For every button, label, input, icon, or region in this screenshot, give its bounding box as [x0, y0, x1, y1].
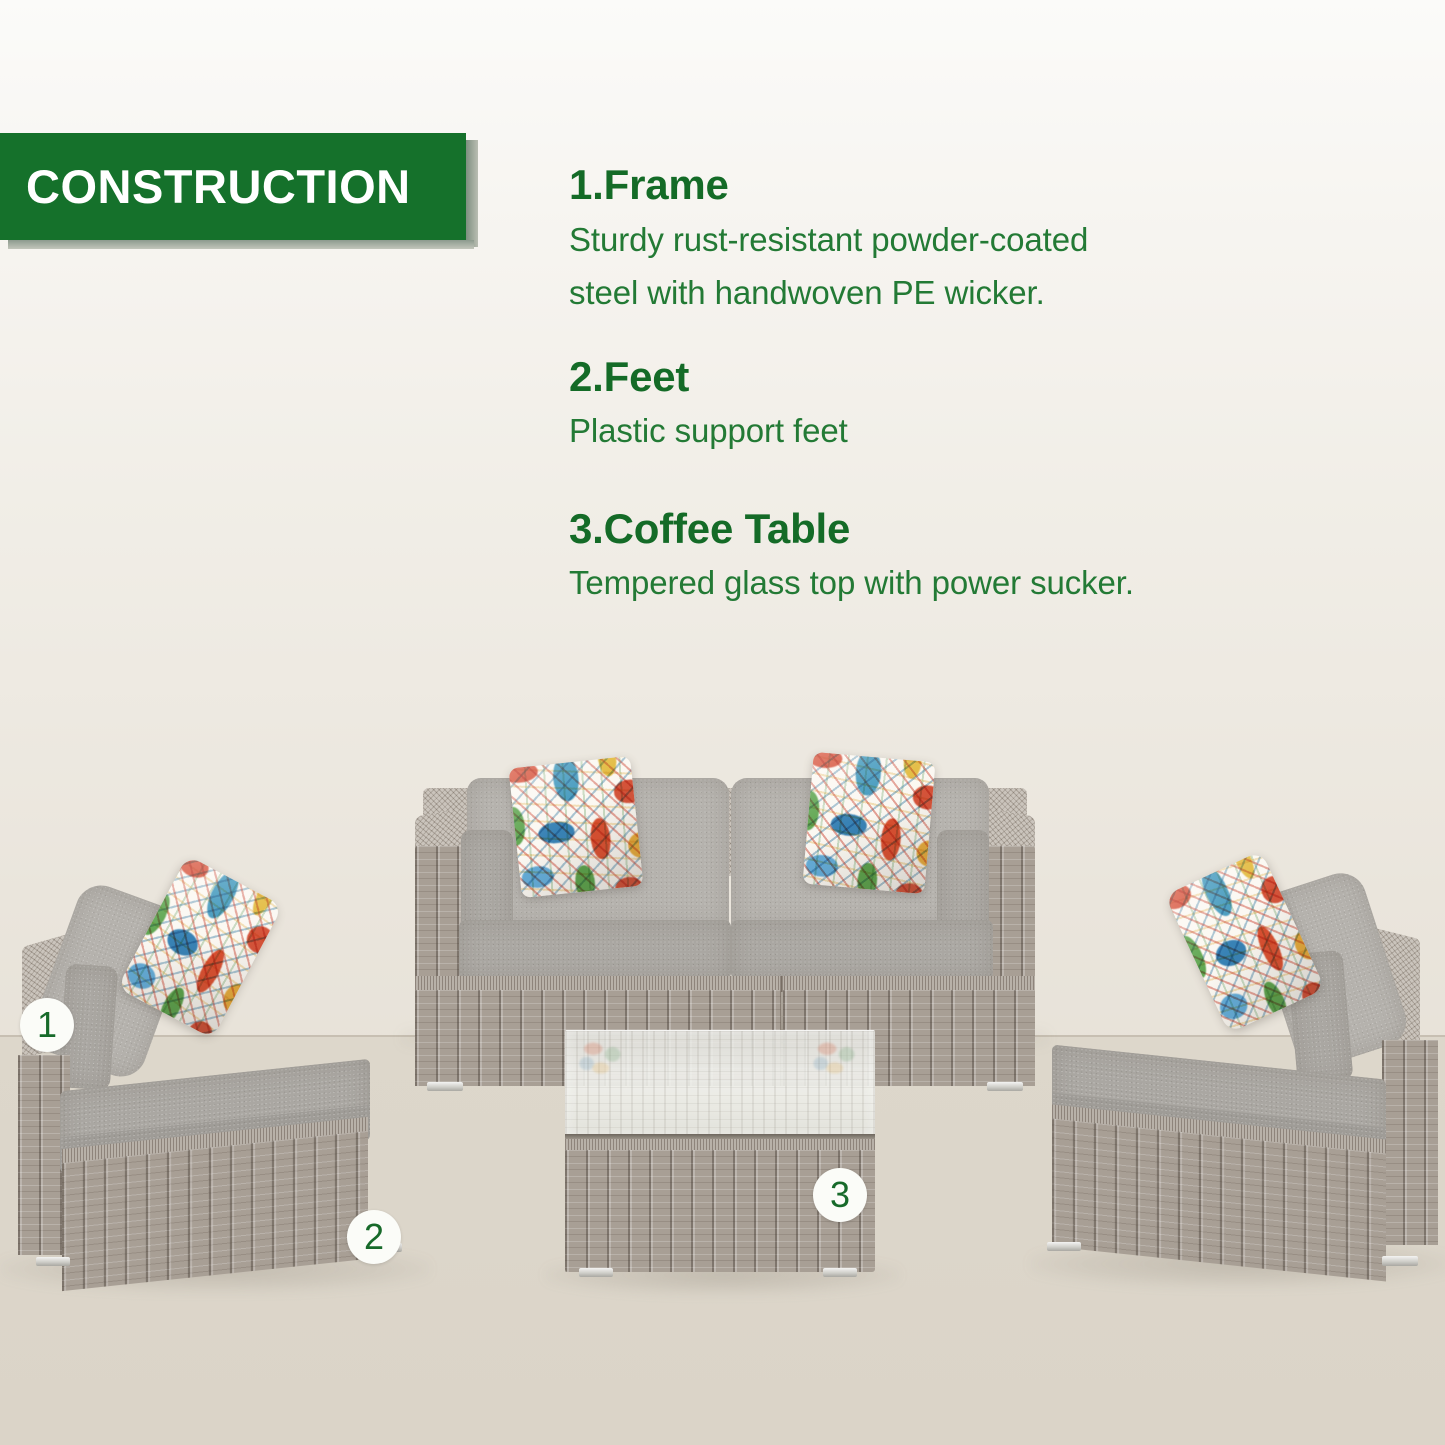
- glass-pillow-reflection-right: [811, 1035, 865, 1081]
- loveseat-foot-right: [987, 1082, 1023, 1091]
- callout-badge-3-number: 3: [830, 1177, 850, 1213]
- right-chair-foot-right: [1382, 1256, 1418, 1266]
- loveseat-foot-left: [427, 1082, 463, 1091]
- feature-title-coffee-table: 3.Coffee Table: [569, 502, 1369, 557]
- feature-title-feet: 2.Feet: [569, 350, 1369, 405]
- callout-badge-2[interactable]: 2: [347, 1210, 401, 1264]
- right-chair-side-panel: [1382, 1040, 1438, 1245]
- feature-body-feet: Plastic support feet: [569, 404, 1369, 457]
- glass-pillow-reflection-left: [577, 1035, 631, 1081]
- callout-badge-2-number: 2: [364, 1219, 384, 1255]
- callout-badge-3[interactable]: 3: [813, 1168, 867, 1222]
- feature-section-frame: 1.Frame Sturdy rust-resistant powder-coa…: [569, 158, 1369, 320]
- feature-section-feet: 2.Feet Plastic support feet: [569, 350, 1369, 458]
- banner-shadow-bottom: [8, 240, 474, 249]
- feature-body-coffee-table-line-1: Tempered glass top with power sucker.: [569, 556, 1369, 609]
- loveseat-pillow-left: [509, 756, 644, 898]
- callout-badge-1-number: 1: [37, 1007, 57, 1043]
- left-chair-foot-left: [36, 1257, 70, 1266]
- feature-title-frame: 1.Frame: [569, 158, 1369, 213]
- feature-body-frame: Sturdy rust-resistant powder-coated stee…: [569, 213, 1369, 320]
- feature-list: 1.Frame Sturdy rust-resistant powder-coa…: [569, 158, 1369, 614]
- loveseat-seat-cushion-right: [731, 920, 993, 980]
- coffee-table: [565, 1030, 875, 1275]
- feature-section-coffee-table: 3.Coffee Table Tempered glass top with p…: [569, 502, 1369, 610]
- infographic-canvas: CONSTRUCTION 1.Frame Sturdy rust-resista…: [0, 0, 1445, 1445]
- feature-body-frame-line-1: Sturdy rust-resistant powder-coated: [569, 213, 1369, 266]
- coffee-table-foot-right: [823, 1268, 857, 1277]
- loveseat: [415, 760, 1035, 1055]
- right-chair-foot-left: [1047, 1242, 1081, 1251]
- construction-banner: CONSTRUCTION: [0, 133, 466, 240]
- feature-body-feet-line-1: Plastic support feet: [569, 404, 1369, 457]
- pillow-shading: [509, 756, 644, 898]
- loveseat-seat-cushion-left: [459, 920, 731, 980]
- feature-body-frame-line-2: steel with handwoven PE wicker.: [569, 266, 1369, 319]
- banner-label: CONSTRUCTION: [26, 133, 452, 240]
- loveseat-pillow-right: [802, 752, 935, 894]
- callout-badge-1[interactable]: 1: [20, 998, 74, 1052]
- pillow-shading: [802, 752, 935, 894]
- banner-shadow-right: [466, 140, 478, 247]
- coffee-table-glass-top: [565, 1030, 875, 1138]
- coffee-table-foot-left: [579, 1268, 613, 1277]
- feature-body-coffee-table: Tempered glass top with power sucker.: [569, 556, 1369, 609]
